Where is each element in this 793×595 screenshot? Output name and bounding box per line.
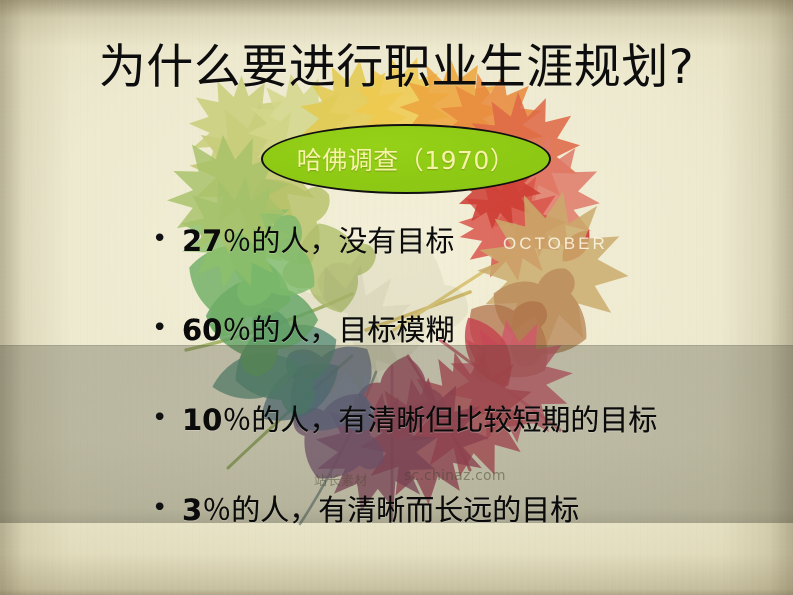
bullet-marker-icon: • (152, 495, 182, 521)
list-item-percent: ％ (222, 403, 251, 437)
list-item-percent: ％ (222, 313, 251, 347)
list-item-text: 60％的人，目标模糊 (182, 316, 454, 345)
list-item-number: 3 (182, 493, 202, 527)
list-item-number: 60 (182, 313, 222, 347)
bullet-marker-icon: • (152, 405, 182, 431)
list-item: • 3％的人，有清晰而长远的目标 (152, 496, 579, 525)
bullet-marker-icon: • (152, 315, 182, 341)
list-item-text: 3％的人，有清晰而长远的目标 (182, 496, 579, 525)
list-item-number: 10 (182, 403, 222, 437)
list-item-body: 的人，有清晰而长远的目标 (231, 493, 579, 527)
slide-canvas: OCTOBER 为什么要进行职业生涯规划? 哈佛调查（1970） • 27％的人… (0, 0, 793, 595)
watermark-url: sc.chinaz.com (404, 468, 506, 484)
watermark-site-name: 站长素材 (314, 470, 368, 489)
list-item: • 10％的人，有清晰但比较短期的目标 (152, 406, 657, 435)
list-item-body: 的人，有清晰但比较短期的目标 (251, 403, 657, 437)
list-item-body: 的人，目标模糊 (251, 313, 454, 347)
list-item-percent: ％ (202, 493, 231, 527)
list-item-text: 10％的人，有清晰但比较短期的目标 (182, 406, 657, 435)
list-item: • 60％的人，目标模糊 (152, 316, 454, 345)
bullet-list-foreground: • 10％的人，有清晰但比较短期的目标 • 3％的人，有清晰而长远的目标 • 6… (0, 0, 793, 595)
